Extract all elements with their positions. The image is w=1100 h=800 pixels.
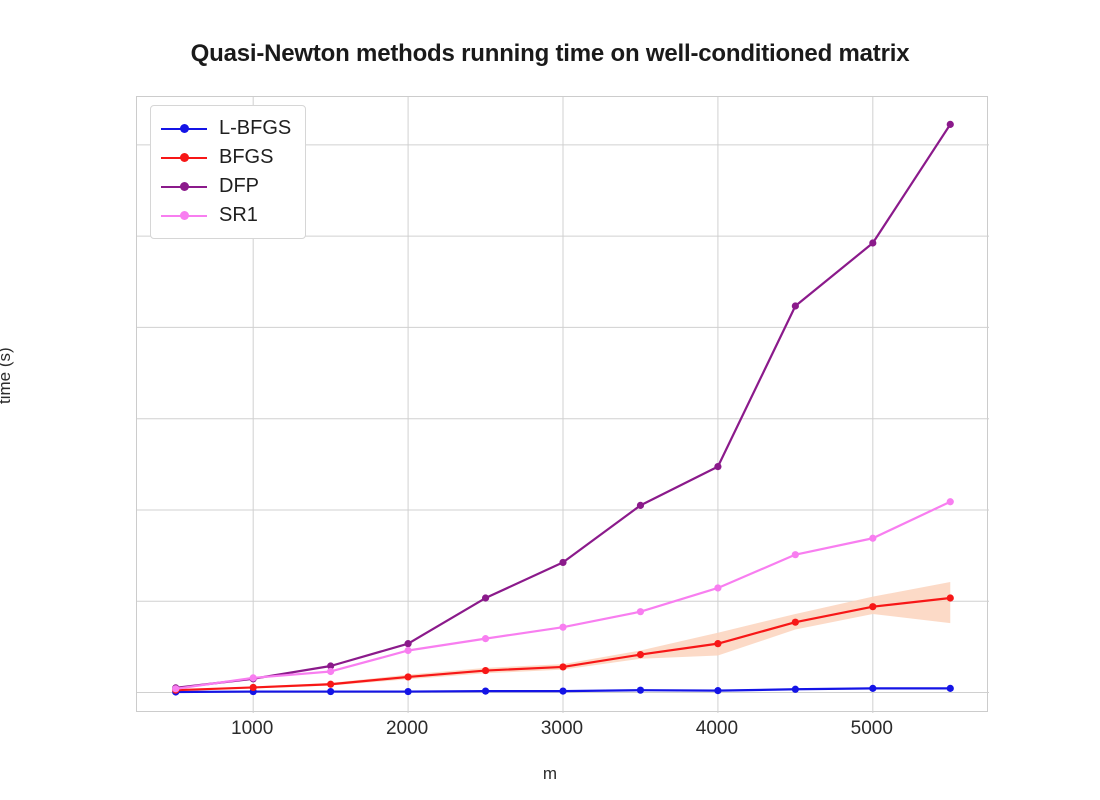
data-point-sr1 — [869, 535, 876, 542]
legend-marker-dot — [180, 182, 189, 191]
data-point-dfp — [559, 559, 566, 566]
data-point-l-bfgs — [714, 687, 721, 694]
data-point-bfgs — [559, 663, 566, 670]
data-point-l-bfgs — [869, 685, 876, 692]
data-point-bfgs — [327, 681, 334, 688]
data-point-bfgs — [482, 667, 489, 674]
data-point-dfp — [482, 594, 489, 601]
legend-label: DFP — [219, 175, 259, 198]
data-point-bfgs — [404, 673, 411, 680]
data-point-bfgs — [869, 603, 876, 610]
chart-legend: L-BFGSBFGSDFPSR1 — [150, 105, 306, 239]
data-point-sr1 — [250, 674, 257, 681]
x-tick-label: 4000 — [647, 718, 787, 740]
legend-item-sr1[interactable]: SR1 — [161, 201, 291, 230]
data-point-bfgs — [792, 619, 799, 626]
x-tick-label: 2000 — [337, 718, 477, 740]
chart-title: Quasi-Newton methods running time on wel… — [0, 40, 1100, 68]
data-point-dfp — [714, 463, 721, 470]
legend-label: L-BFGS — [219, 117, 291, 140]
data-point-sr1 — [792, 551, 799, 558]
data-point-sr1 — [559, 624, 566, 631]
data-point-sr1 — [482, 635, 489, 642]
data-point-l-bfgs — [792, 686, 799, 693]
legend-marker-dot — [180, 124, 189, 133]
data-point-dfp — [637, 502, 644, 509]
data-point-bfgs — [250, 684, 257, 691]
x-axis-label: m — [0, 764, 1100, 784]
legend-label: SR1 — [219, 204, 258, 227]
data-point-dfp — [869, 239, 876, 246]
legend-marker-dot — [180, 211, 189, 220]
legend-swatch-icon — [161, 151, 207, 165]
legend-item-dfp[interactable]: DFP — [161, 172, 291, 201]
legend-swatch-icon — [161, 122, 207, 136]
y-axis-label: time (s) — [0, 347, 15, 404]
data-point-sr1 — [327, 668, 334, 675]
chart-figure: Quasi-Newton methods running time on wel… — [0, 0, 1100, 800]
data-point-bfgs — [947, 594, 954, 601]
data-point-l-bfgs — [947, 685, 954, 692]
data-point-l-bfgs — [327, 688, 334, 695]
legend-item-bfgs[interactable]: BFGS — [161, 143, 291, 172]
data-point-dfp — [404, 640, 411, 647]
legend-swatch-icon — [161, 180, 207, 194]
data-point-sr1 — [172, 685, 179, 692]
x-tick-label: 1000 — [182, 718, 322, 740]
data-point-l-bfgs — [404, 688, 411, 695]
data-point-sr1 — [404, 647, 411, 654]
data-point-sr1 — [714, 584, 721, 591]
x-tick-label: 3000 — [492, 718, 632, 740]
data-point-l-bfgs — [482, 687, 489, 694]
legend-label: BFGS — [219, 146, 273, 169]
data-point-sr1 — [947, 498, 954, 505]
x-tick-label: 5000 — [802, 718, 942, 740]
data-point-dfp — [792, 302, 799, 309]
data-point-l-bfgs — [559, 687, 566, 694]
data-point-l-bfgs — [637, 687, 644, 694]
data-point-sr1 — [637, 608, 644, 615]
legend-item-l-bfgs[interactable]: L-BFGS — [161, 114, 291, 143]
data-point-dfp — [947, 121, 954, 128]
legend-swatch-icon — [161, 209, 207, 223]
data-point-bfgs — [637, 651, 644, 658]
data-point-bfgs — [714, 640, 721, 647]
legend-marker-dot — [180, 153, 189, 162]
